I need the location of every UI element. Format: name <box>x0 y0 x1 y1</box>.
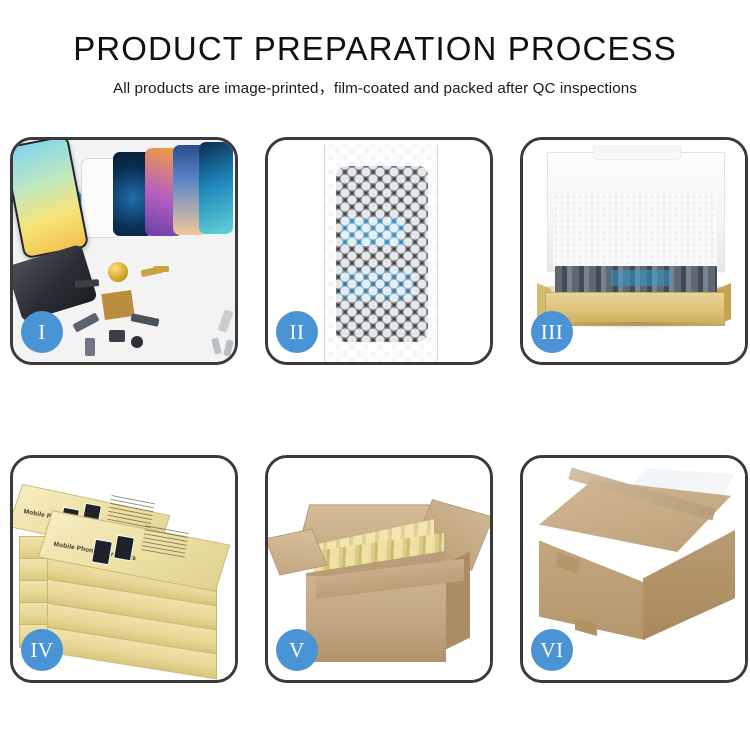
screw-part-left <box>211 337 222 354</box>
screwdriver-tool <box>218 309 234 333</box>
process-step-card-5[interactable]: V <box>265 455 493 683</box>
sim-tray-part <box>85 338 95 356</box>
teal-display-screen <box>199 142 233 234</box>
step-badge-5: V <box>276 629 318 671</box>
mailer-box-front-panel <box>545 292 725 326</box>
process-step-card-4[interactable]: Mobile Phone Spare Parts Mobile Phone Sp… <box>10 455 238 683</box>
ribbon-cable-part <box>72 312 99 332</box>
screw-part-right <box>223 339 234 356</box>
process-step-card-6[interactable]: VI <box>520 455 748 683</box>
vibrator-motor-part <box>131 336 143 348</box>
antenna-cable-part <box>130 313 159 327</box>
mailer-box-shadow <box>547 322 723 330</box>
flex-cable-part <box>75 279 99 288</box>
step-badge-6: VI <box>531 629 573 671</box>
mailer-box-lid-tab <box>593 146 681 160</box>
header: PRODUCT PREPARATION PROCESS All products… <box>0 0 750 98</box>
process-step-card-2[interactable]: II <box>265 137 493 365</box>
camera-module-part <box>109 330 125 342</box>
circuit-board-part <box>101 290 134 320</box>
bubble-wrap-edge <box>324 144 438 362</box>
step-badge-3: III <box>531 311 573 353</box>
step-badge-4: IV <box>21 629 63 671</box>
process-step-card-3[interactable]: III <box>520 137 748 365</box>
process-step-grid: I II III <box>10 137 740 683</box>
process-step-card-1[interactable]: I <box>10 137 238 365</box>
page-title: PRODUCT PREPARATION PROCESS <box>0 32 750 67</box>
mailer-box-foam-liner <box>553 194 717 268</box>
assembled-phone-front <box>13 140 89 259</box>
step-badge-1: I <box>21 311 63 353</box>
product-preparation-infographic: PRODUCT PREPARATION PROCESS All products… <box>0 0 750 750</box>
page-subtitle: All products are image-printed，film-coat… <box>0 76 750 98</box>
speaker-module-part <box>108 262 128 282</box>
step-badge-2: II <box>276 311 318 353</box>
gold-contact-part <box>153 266 169 272</box>
